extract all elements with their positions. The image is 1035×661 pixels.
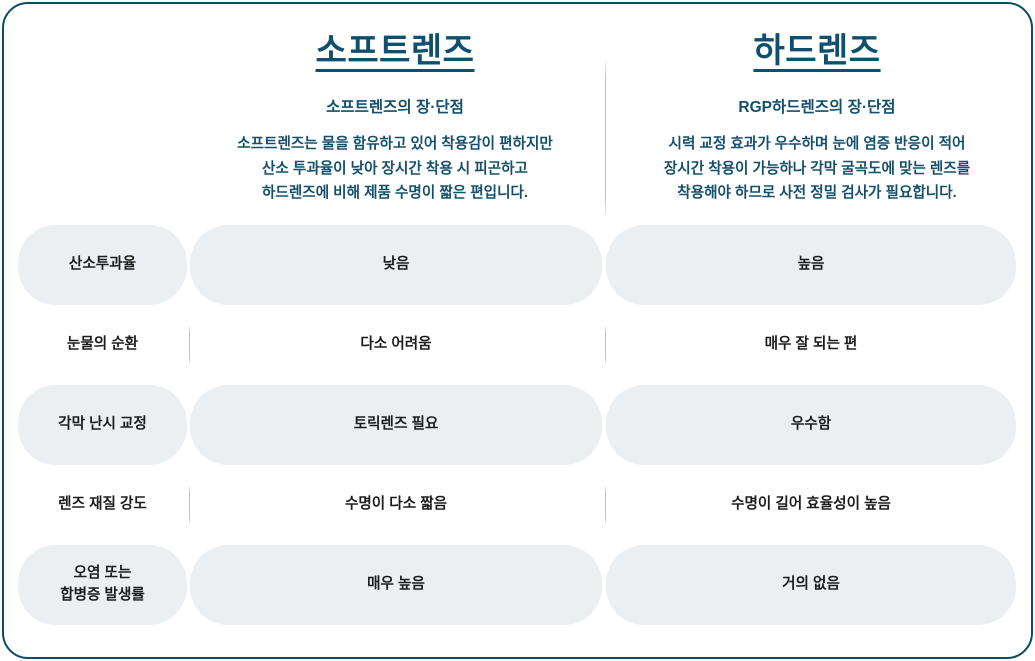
row-divider-left <box>189 485 190 525</box>
column-subtitle-hard: RGP하드렌즈의 장·단점 <box>738 98 895 119</box>
row-label: 눈물의 순환 <box>18 305 187 385</box>
row-value-hard-text: 매우 잘 되는 편 <box>765 334 858 356</box>
table-row: 눈물의 순환 다소 어려움 매우 잘 되는 편 <box>4 305 1031 385</box>
column-description-soft: 소프트렌즈는 물을 함유하고 있어 착용감이 편하지만 산소 투과율이 낮아 장… <box>237 132 553 206</box>
row-label: 렌즈 재질 강도 <box>18 465 187 545</box>
row-value-soft: 다소 어려움 <box>190 305 602 385</box>
row-value-soft-text: 수명이 다소 짧음 <box>345 494 447 516</box>
column-title-hard: 하드렌즈 <box>753 30 880 73</box>
row-value-hard-text: 높음 <box>798 254 825 276</box>
row-value-soft-text: 토릭렌즈 필요 <box>354 414 439 436</box>
comparison-header: 소프트렌즈 소프트렌즈의 장·단점 소프트렌즈는 물을 함유하고 있어 착용감이… <box>4 4 1031 225</box>
table-row: 오염 또는 합병증 발생률 매우 높음 거의 없음 <box>4 545 1031 625</box>
comparison-card: 소프트렌즈 소프트렌즈의 장·단점 소프트렌즈는 물을 함유하고 있어 착용감이… <box>2 2 1033 659</box>
column-description-soft-line-2: 산소 투과율이 낮아 장시간 착용 시 피곤하고 <box>237 157 553 182</box>
row-value-hard-text: 거의 없음 <box>782 574 840 596</box>
row-value-hard-text: 수명이 길어 효율성이 높음 <box>731 494 891 516</box>
row-label: 각막 난시 교정 <box>18 385 187 465</box>
row-divider-right <box>605 325 606 365</box>
row-value-hard: 수명이 길어 효율성이 높음 <box>606 465 1016 545</box>
column-description-soft-line-3: 하드렌즈에 비해 제품 수명이 짧은 편입니다. <box>237 181 553 206</box>
comparison-table: 산소투과율 낮음 높음 눈물의 순환 다소 어려움 매우 잘 되는 편 <box>4 225 1031 639</box>
column-subtitle-soft: 소프트렌즈의 장·단점 <box>326 98 464 119</box>
table-row: 각막 난시 교정 토릭렌즈 필요 우수함 <box>4 385 1031 465</box>
row-label-multiline: 오염 또는 합병증 발생률 <box>60 563 145 607</box>
row-label-text: 각막 난시 교정 <box>58 414 147 436</box>
header-column-divider <box>605 58 606 218</box>
table-row: 산소투과율 낮음 높음 <box>4 225 1031 305</box>
row-divider-left <box>189 325 190 365</box>
column-description-soft-line-1: 소프트렌즈는 물을 함유하고 있어 착용감이 편하지만 <box>237 132 553 157</box>
row-label-text: 오염 또는 <box>60 563 145 585</box>
row-value-hard-text: 우수함 <box>791 414 831 436</box>
column-description-hard-line-3: 착용해야 하므로 사전 정밀 검사가 필요합니다. <box>664 181 970 206</box>
column-description-hard-line-2: 장시간 착용이 가능하나 각막 굴곡도에 맞는 렌즈를 <box>664 157 970 182</box>
row-value-hard: 높음 <box>606 225 1016 305</box>
header-column-hard: 하드렌즈 RGP하드렌즈의 장·단점 시력 교정 효과가 우수하며 눈에 염증 … <box>603 30 1031 225</box>
row-label: 오염 또는 합병증 발생률 <box>18 545 187 625</box>
column-description-hard: 시력 교정 효과가 우수하며 눈에 염증 반응이 적어 장시간 착용이 가능하나… <box>664 132 970 206</box>
row-value-soft: 수명이 다소 짧음 <box>190 465 602 545</box>
column-description-hard-line-1: 시력 교정 효과가 우수하며 눈에 염증 반응이 적어 <box>664 132 970 157</box>
row-label-text-2: 합병증 발생률 <box>60 585 145 607</box>
row-label-text: 렌즈 재질 강도 <box>58 494 147 516</box>
row-label-text: 산소투과율 <box>69 254 136 276</box>
row-value-hard: 거의 없음 <box>606 545 1016 625</box>
header-column-soft: 소프트렌즈 소프트렌즈의 장·단점 소프트렌즈는 물을 함유하고 있어 착용감이… <box>187 30 603 225</box>
row-divider-right <box>605 485 606 525</box>
row-label: 산소투과율 <box>18 225 187 305</box>
row-value-soft: 토릭렌즈 필요 <box>190 385 602 465</box>
row-value-soft: 낮음 <box>190 225 602 305</box>
column-title-soft: 소프트렌즈 <box>316 30 475 73</box>
row-value-soft-text: 낮음 <box>383 254 410 276</box>
row-value-soft-text: 다소 어려움 <box>360 334 431 356</box>
row-value-soft: 매우 높음 <box>190 545 602 625</box>
table-row: 렌즈 재질 강도 수명이 다소 짧음 수명이 길어 효율성이 높음 <box>4 465 1031 545</box>
header-label-spacer <box>4 30 187 225</box>
row-label-text: 눈물의 순환 <box>67 334 138 356</box>
row-value-hard: 매우 잘 되는 편 <box>606 305 1016 385</box>
row-value-soft-text: 매우 높음 <box>367 574 425 596</box>
row-value-hard: 우수함 <box>606 385 1016 465</box>
